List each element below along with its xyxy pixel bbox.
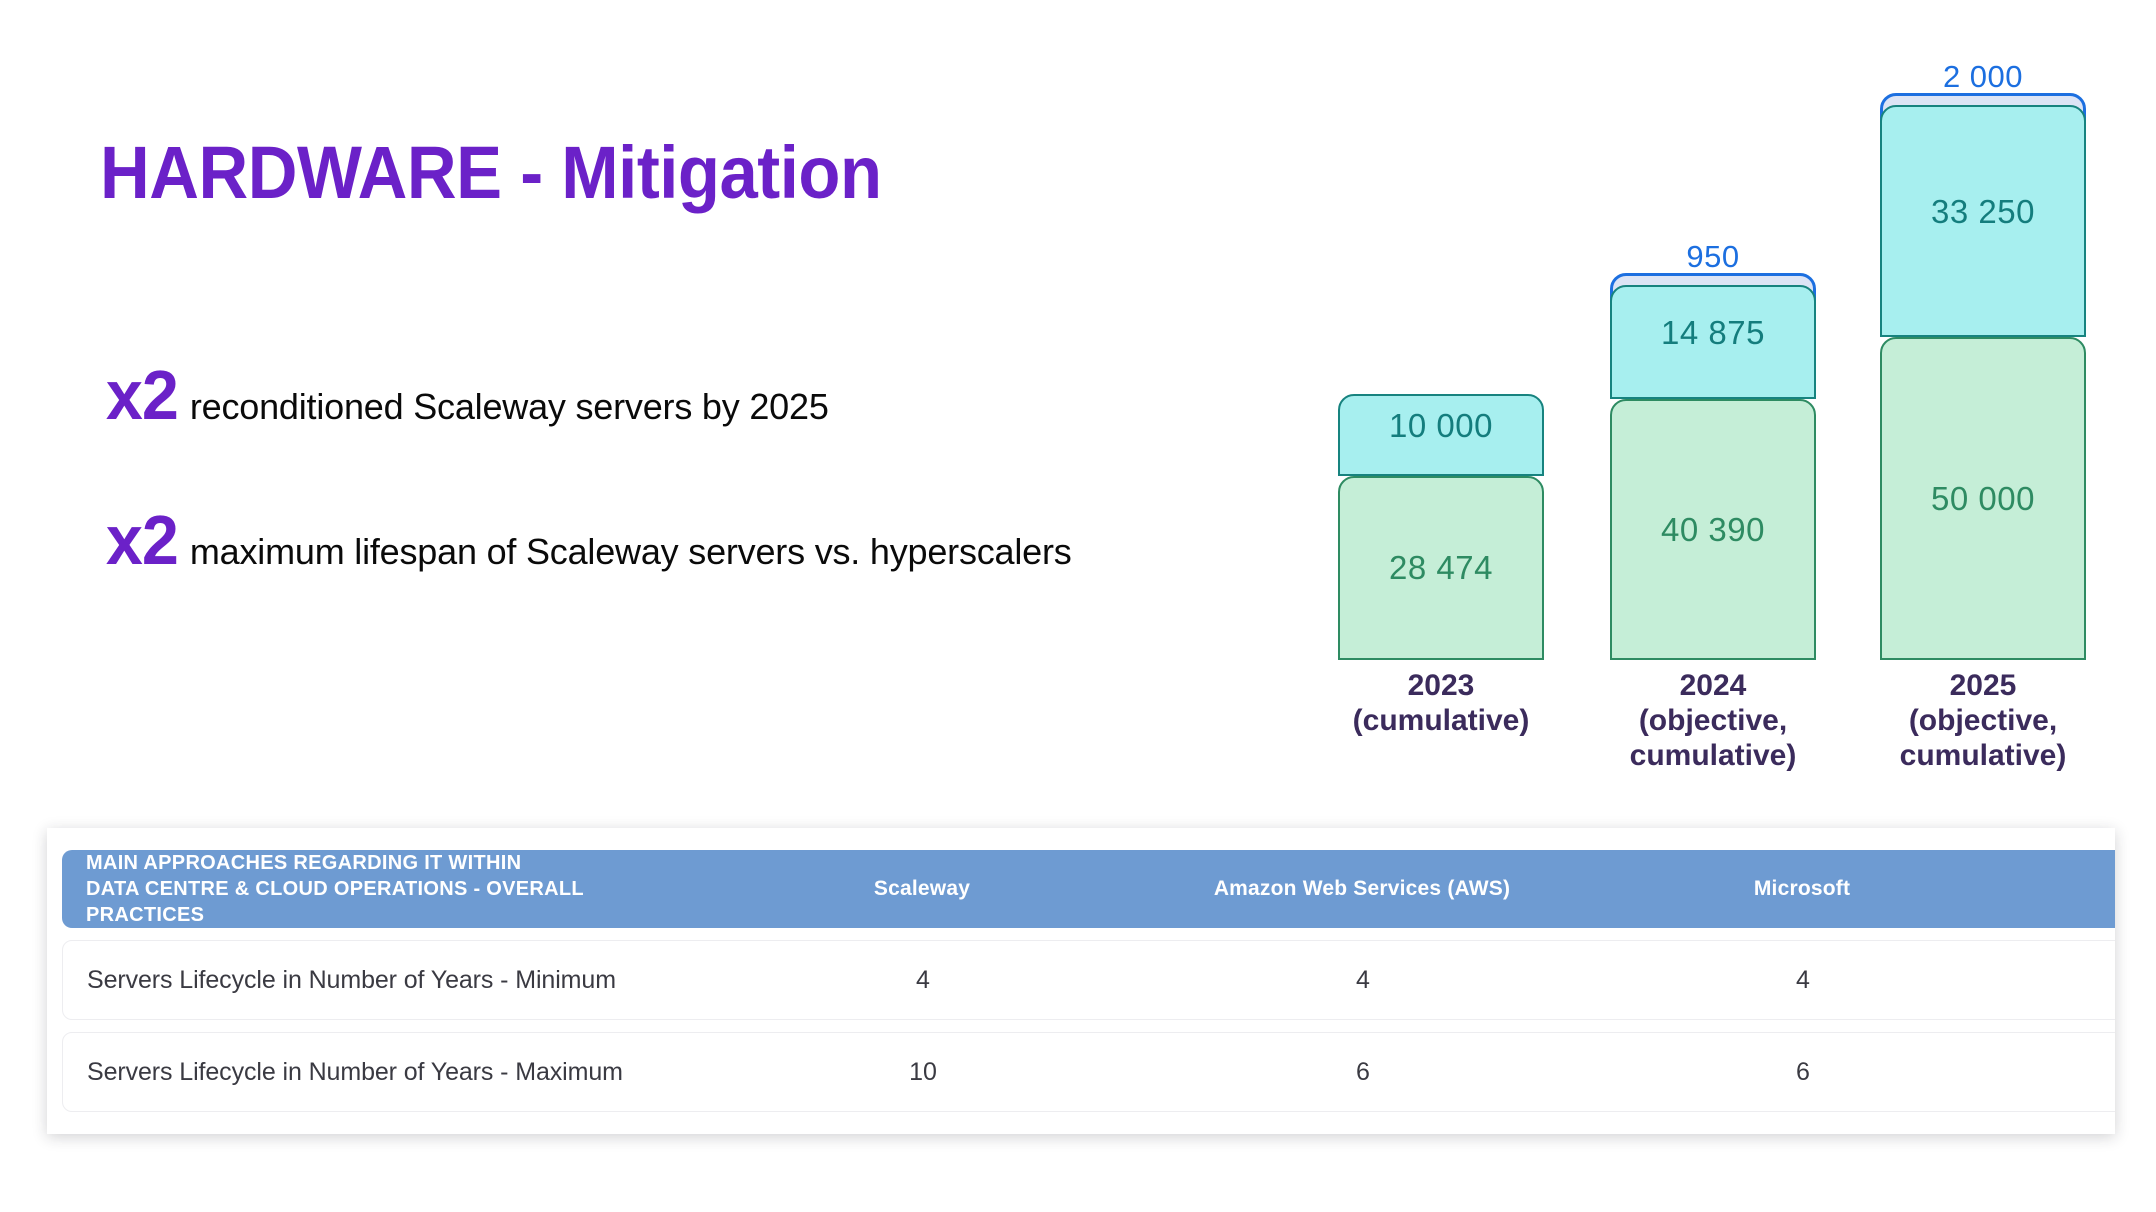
- table-header-col-scaleway: Scaleway: [702, 877, 1142, 901]
- table-cell-microsoft: 4: [1583, 966, 2023, 995]
- comparison-table-panel: MAIN APPROACHES REGARDING IT WITHIN DATA…: [47, 828, 2115, 1134]
- table-row: Servers Lifecycle in Number of Years - M…: [62, 940, 2115, 1020]
- table-cell-aws: 4: [1143, 966, 1583, 995]
- axis-tick-label-2024: 2024(objective,cumulative): [1598, 668, 1828, 773]
- table-header-label-line1: MAIN APPROACHES REGARDING IT WITHIN: [86, 850, 702, 876]
- stacked-bar-chart: 10 000 28 474 950 14 875 40 390 2 000: [1300, 40, 2140, 800]
- bar-segment-top: 14 875: [1610, 285, 1816, 399]
- bar-segment-bottom-value: 28 474: [1389, 549, 1493, 587]
- bar-cap-label: 950: [1610, 239, 1816, 275]
- slide-root: HARDWARE - Mitigation x2 reconditioned S…: [0, 0, 2156, 1212]
- bullet-list: x2 reconditioned Scaleway servers by 202…: [104, 360, 1284, 650]
- table-row: Servers Lifecycle in Number of Years - M…: [62, 1032, 2115, 1112]
- bullet-item: x2 maximum lifespan of Scaleway servers …: [104, 505, 1284, 575]
- table-header-col-microsoft: Microsoft: [1582, 877, 2022, 901]
- axis-tick-line: (cumulative): [1326, 703, 1556, 738]
- chart-x-axis: 2023(cumulative) 2024(objective,cumulati…: [1300, 668, 2140, 800]
- axis-tick-line: cumulative): [1868, 738, 2098, 773]
- table-cell-scaleway: 4: [703, 966, 1143, 995]
- table-header-label-line2: DATA CENTRE & CLOUD OPERATIONS - OVERALL…: [86, 876, 702, 928]
- axis-tick-label-2023: 2023(cumulative): [1326, 668, 1556, 738]
- page-title: HARDWARE - Mitigation: [100, 130, 882, 216]
- bar-segment-bottom-value: 40 390: [1661, 511, 1765, 549]
- bar-segment-top-value: 14 875: [1661, 314, 1765, 352]
- bar-segment-bottom: 50 000: [1880, 337, 2086, 660]
- bullet-multiplier: x2: [106, 505, 178, 575]
- axis-tick-line: 2025: [1868, 668, 2098, 703]
- axis-tick-line: cumulative): [1598, 738, 1828, 773]
- table-header-label-cell: MAIN APPROACHES REGARDING IT WITHIN DATA…: [62, 850, 702, 928]
- axis-tick-line: 2024: [1598, 668, 1828, 703]
- comparison-table: MAIN APPROACHES REGARDING IT WITHIN DATA…: [62, 850, 2115, 1112]
- bullet-multiplier: x2: [106, 360, 178, 430]
- bar-segment-top: 33 250: [1880, 105, 2086, 338]
- bullet-text: reconditioned Scaleway servers by 2025: [190, 385, 829, 429]
- table-header-col-aws: Amazon Web Services (AWS): [1142, 877, 1582, 901]
- bar-cap-label: 2 000: [1880, 59, 2086, 95]
- axis-tick-line: (objective,: [1868, 703, 2098, 738]
- bar-segment-bottom-value: 50 000: [1931, 480, 2035, 518]
- bar-segment-bottom: 28 474: [1338, 476, 1544, 660]
- axis-tick-line: 2023: [1326, 668, 1556, 703]
- table-header-row: MAIN APPROACHES REGARDING IT WITHIN DATA…: [62, 850, 2115, 928]
- bar-segment-top-value: 10 000: [1389, 407, 1493, 445]
- chart-plot-area: 10 000 28 474 950 14 875 40 390 2 000: [1300, 40, 2140, 660]
- table-cell-label: Servers Lifecycle in Number of Years - M…: [63, 1058, 703, 1087]
- bar-segment-bottom: 40 390: [1610, 399, 1816, 660]
- table-cell-microsoft: 6: [1583, 1058, 2023, 1087]
- table-cell-aws: 6: [1143, 1058, 1583, 1087]
- bar-segment-top: 10 000: [1338, 394, 1544, 477]
- bar-segment-top-value: 33 250: [1931, 193, 2035, 231]
- table-cell-scaleway: 10: [703, 1058, 1143, 1087]
- axis-tick-line: (objective,: [1598, 703, 1828, 738]
- bullet-item: x2 reconditioned Scaleway servers by 202…: [104, 360, 1284, 430]
- bullet-text: maximum lifespan of Scaleway servers vs.…: [190, 530, 1072, 574]
- table-cell-label: Servers Lifecycle in Number of Years - M…: [63, 966, 703, 995]
- axis-tick-label-2025: 2025(objective,cumulative): [1868, 668, 2098, 773]
